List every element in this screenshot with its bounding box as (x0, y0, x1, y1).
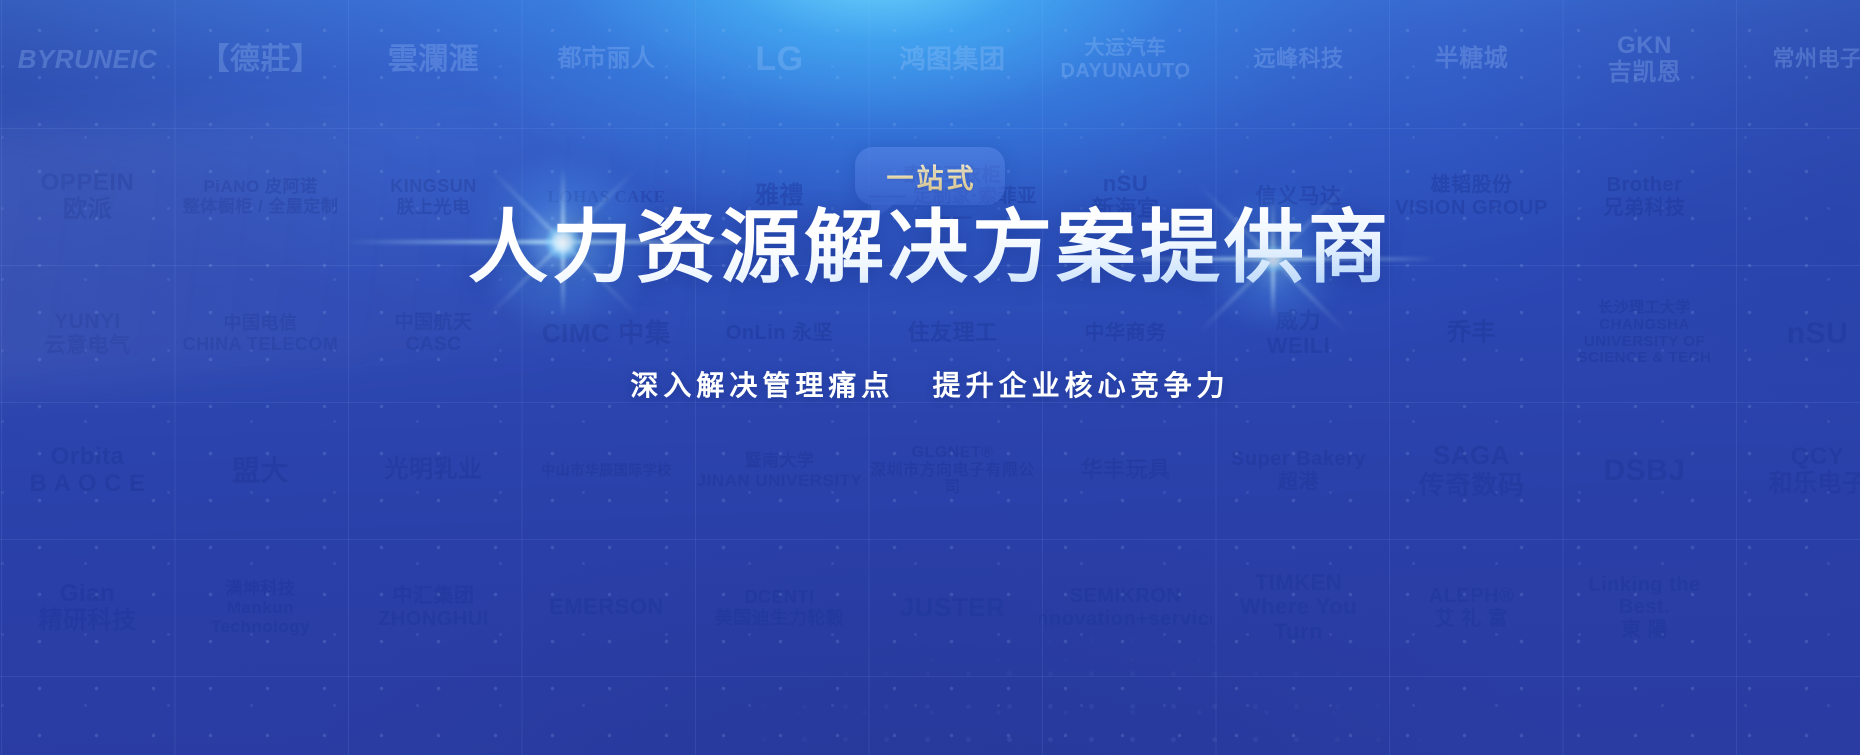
hero-content: 一站式 人力资源解决方案提供商 深入解决管理痛点 提升企业核心竞争力 (0, 0, 1860, 432)
badge-label: 一站式 (884, 157, 977, 196)
hero-banner: BYRUNEIC【德莊】雲瀾滙都市丽人LG鸿图集团大运汽车 DAYUNAUTO远… (0, 0, 1860, 755)
one-stop-badge: 一站式 (855, 147, 1005, 205)
bottom-mesh-pattern (0, 455, 1860, 755)
page-title: 人力资源解决方案提供商 (468, 199, 1392, 297)
badge-wrapper: 一站式 (855, 147, 1005, 205)
page-subtitle: 深入解决管理痛点 提升企业核心竞争力 (630, 364, 1229, 404)
